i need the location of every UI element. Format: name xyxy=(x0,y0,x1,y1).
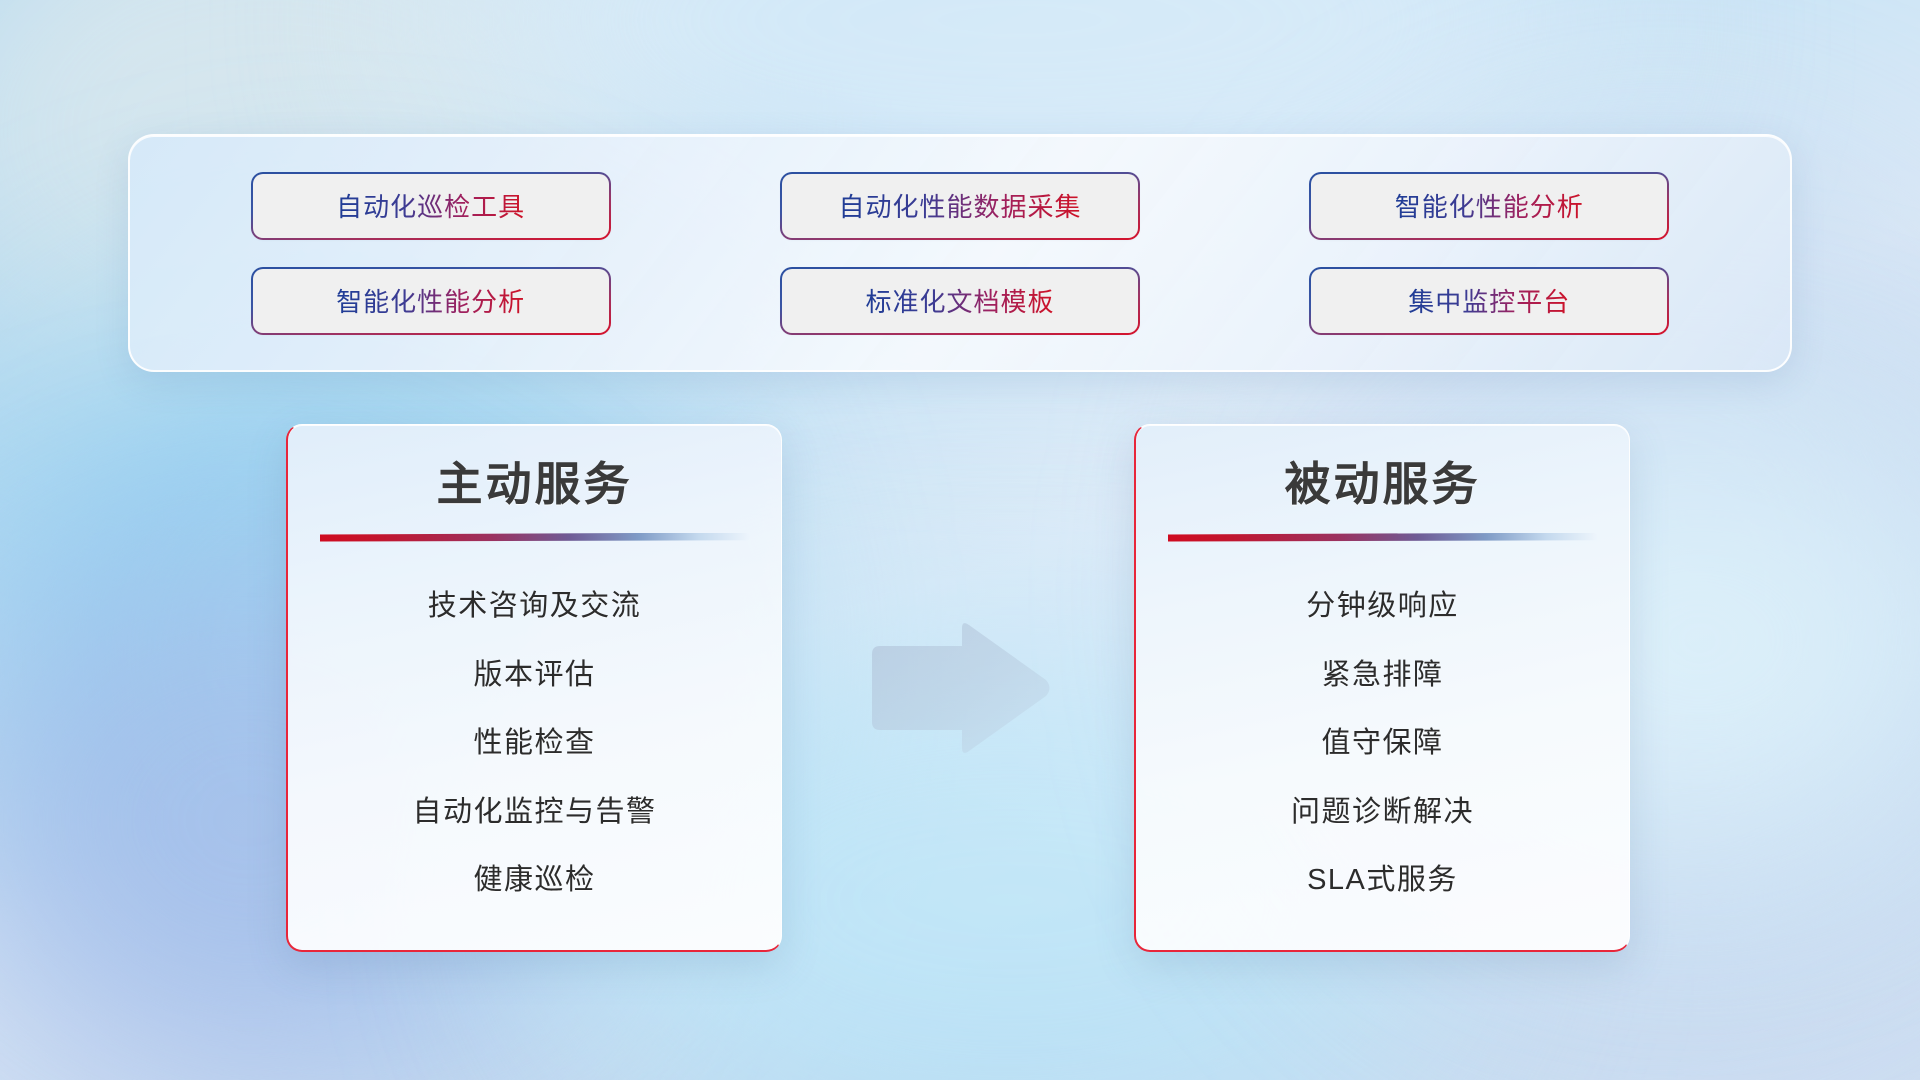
list-item: 值守保障 xyxy=(1321,726,1443,761)
list-item: 分钟级响应 xyxy=(1306,589,1459,624)
arrow-right-icon xyxy=(866,618,1056,758)
capability-tools-panel: 自动化巡检工具 自动化性能数据采集 智能化性能分析 智能化性能分析 标准化文档模… xyxy=(128,134,1792,372)
tool-pill-label: 自动化巡检工具 xyxy=(336,187,525,224)
list-item: 自动化监控与告警 xyxy=(412,795,656,830)
tool-pill-label: 标准化文档模板 xyxy=(865,282,1054,319)
list-item: 问题诊断解决 xyxy=(1291,795,1474,830)
service-card-proactive: 主动服务 技术咨询及交流 版本评估 性能检查 自动化监控与告警 健康巡检 xyxy=(286,424,782,952)
card-item-list: 分钟级响应 紧急排障 值守保障 问题诊断解决 SLA式服务 xyxy=(1164,542,1601,932)
tool-pill-label: 集中监控平台 xyxy=(1408,282,1570,319)
list-item: 版本评估 xyxy=(473,658,595,693)
tool-pill-label: 自动化性能数据采集 xyxy=(838,187,1081,224)
list-item: 技术咨询及交流 xyxy=(428,589,642,624)
tool-pill[interactable]: 自动化巡检工具 xyxy=(253,174,609,238)
flow-arrow xyxy=(866,618,1056,758)
tool-pill[interactable]: 智能化性能分析 xyxy=(253,269,609,333)
tool-pill[interactable]: 智能化性能分析 xyxy=(1311,174,1667,238)
card-accent-bar xyxy=(320,533,750,542)
tool-pill[interactable]: 集中监控平台 xyxy=(1311,269,1667,333)
service-card-reactive: 被动服务 分钟级响应 紧急排障 值守保障 问题诊断解决 SLA式服务 xyxy=(1134,424,1630,952)
list-item: 健康巡检 xyxy=(473,863,595,898)
card-title: 主动服务 xyxy=(437,459,633,511)
card-accent-bar xyxy=(1168,533,1598,542)
list-item: SLA式服务 xyxy=(1307,863,1458,898)
diagram-stage: 自动化巡检工具 自动化性能数据采集 智能化性能分析 智能化性能分析 标准化文档模… xyxy=(0,0,1920,1080)
tool-pill[interactable]: 标准化文档模板 xyxy=(782,269,1138,333)
list-item: 紧急排障 xyxy=(1321,658,1443,693)
tool-pill-label: 智能化性能分析 xyxy=(336,282,525,319)
card-item-list: 技术咨询及交流 版本评估 性能检查 自动化监控与告警 健康巡检 xyxy=(316,542,753,932)
card-title: 被动服务 xyxy=(1285,459,1481,511)
tool-pill[interactable]: 自动化性能数据采集 xyxy=(782,174,1138,238)
list-item: 性能检查 xyxy=(473,726,595,761)
tool-pill-label: 智能化性能分析 xyxy=(1395,187,1584,224)
